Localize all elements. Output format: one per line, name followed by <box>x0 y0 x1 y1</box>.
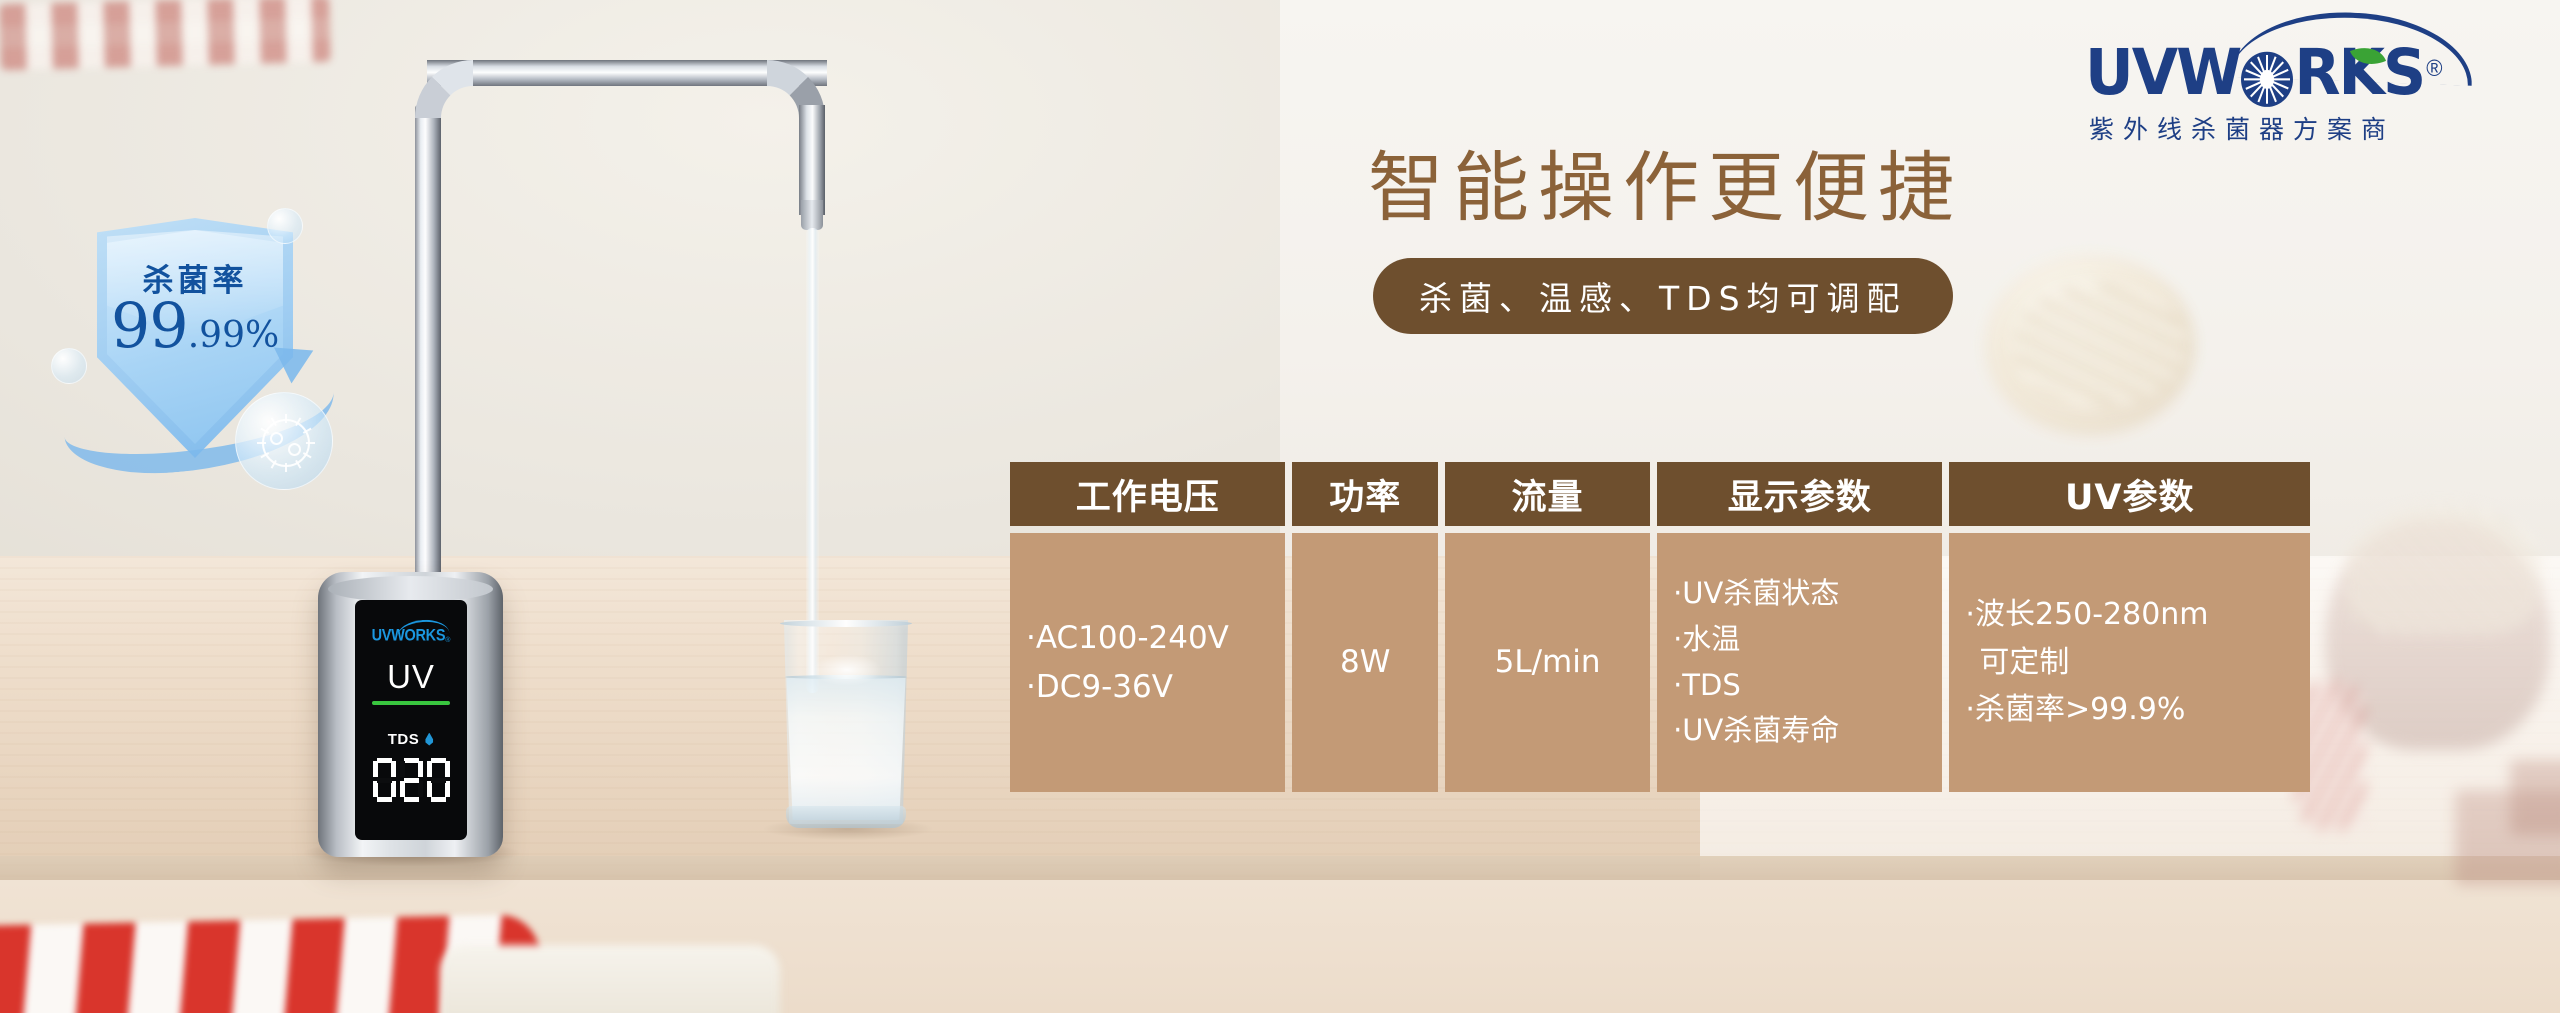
glass-water-fill <box>784 678 908 820</box>
faucet-corner-left <box>415 60 473 118</box>
page-title: 智能操作更便捷 <box>1368 126 1963 236</box>
banner-stage: UVWORKS ® UV TDS <box>0 0 2560 1013</box>
device-logo-registered: ® <box>445 637 450 644</box>
device-oled-screen: UVWORKS ® UV TDS <box>355 600 467 840</box>
badge-value-integer: 99 <box>111 289 188 362</box>
spec-body: 8W <box>1292 533 1438 792</box>
spec-body: ·波长250-280nm 可定制 ·杀菌率>99.9% <box>1949 533 2310 792</box>
faucet-left-column <box>415 105 441 605</box>
faucet-right-column <box>799 105 825 215</box>
spec-header: 功率 <box>1292 462 1438 526</box>
badge-value-decimal: .99% <box>188 315 279 356</box>
sterilization-rate-badge: 杀菌率 99.99% <box>45 200 345 500</box>
uv-sun-icon <box>2241 52 2293 107</box>
germ-cilia <box>264 421 308 465</box>
spec-line: 5L/min <box>1495 638 1601 687</box>
seven-segment-digit <box>373 758 396 802</box>
device-tds-label: TDS <box>388 731 420 748</box>
basket-net-prop <box>2345 505 2540 635</box>
spec-table: 工作电压 ·AC100-240V ·DC9-36V 功率 8W 流量 5L/mi… <box>1010 462 2310 792</box>
subtitle-pill-text: 杀菌、温感、TDS均可调配 <box>1419 272 1907 320</box>
spec-column-uv: UV参数 ·波长250-280nm 可定制 ·杀菌率>99.9% <box>1949 462 2310 792</box>
spec-line: ·波长250-280nm <box>1965 591 2208 638</box>
bubble-icon <box>267 208 303 244</box>
brand-logo: UVW RKS ® 紫外线杀菌器方案商 <box>2085 38 2485 168</box>
spec-column-flow: 流量 5L/min <box>1445 462 1650 792</box>
device-top-cap <box>328 576 493 602</box>
badge-value: 99.99% <box>97 295 293 357</box>
seven-segment-digit <box>427 758 450 802</box>
gooseneck-faucet <box>415 60 835 620</box>
spec-header: 工作电压 <box>1010 462 1285 526</box>
uv-sterilizer-device: UVWORKS ® UV TDS <box>318 572 503 862</box>
spec-body: 5L/min <box>1445 533 1650 792</box>
spec-line: ·水温 <box>1673 617 1740 663</box>
brand-tagline: 紫外线杀菌器方案商 <box>2085 110 2485 146</box>
checkered-cloth-prop <box>0 0 331 70</box>
spec-header: 流量 <box>1445 462 1650 526</box>
germ-bubble-icon <box>235 392 333 490</box>
water-splash <box>812 654 882 686</box>
spec-column-display: 显示参数 ·UV杀菌状态 ·水温 ·TDS ·UV杀菌寿命 <box>1657 462 1942 792</box>
uv-sun-core <box>2260 70 2274 89</box>
brand-wordmark: UVW RKS ® <box>2085 36 2485 110</box>
spec-body: ·UV杀菌状态 ·水温 ·TDS ·UV杀菌寿命 <box>1657 533 1942 792</box>
seven-segment-digit <box>400 758 423 802</box>
spec-header: UV参数 <box>1949 462 2310 526</box>
spec-line: ·杀菌率>99.9% <box>1965 686 2185 733</box>
spec-line: ·AC100-240V <box>1026 614 1229 663</box>
spec-line: ·TDS <box>1673 663 1741 709</box>
device-tds-row: TDS <box>388 731 435 748</box>
device-status-bar <box>372 701 450 705</box>
white-bowl-prop <box>440 945 780 1013</box>
germ-icon <box>262 419 310 467</box>
wooden-blocks-prop-2 <box>2510 760 2560 835</box>
device-logo-text: UVWORKS <box>372 627 446 645</box>
device-uv-label: UV <box>387 658 435 696</box>
spec-line: 8W <box>1340 638 1390 687</box>
water-glass <box>780 620 912 832</box>
brand-wordmark-pre: UVW <box>2085 36 2240 110</box>
glass-base <box>786 806 906 828</box>
faucet-spout <box>801 200 823 230</box>
spec-header: 显示参数 <box>1657 462 1942 526</box>
yarn-ball-texture <box>2015 285 2185 405</box>
spec-body: ·AC100-240V ·DC9-36V <box>1010 533 1285 792</box>
spec-line: ·UV杀菌状态 <box>1673 571 1839 617</box>
spec-column-power: 功率 8W <box>1292 462 1438 792</box>
water-droplet-icon <box>424 733 434 746</box>
glass-rim <box>780 620 912 627</box>
bubble-icon <box>51 348 87 384</box>
spec-line: ·UV杀菌寿命 <box>1673 708 1839 754</box>
device-screen-logo: UVWORKS ® <box>367 622 455 644</box>
spec-line: ·DC9-36V <box>1026 663 1173 712</box>
spec-column-voltage: 工作电压 ·AC100-240V ·DC9-36V <box>1010 462 1285 792</box>
spec-line: 可定制 <box>1965 639 2069 686</box>
subtitle-pill: 杀菌、温感、TDS均可调配 <box>1373 258 1953 334</box>
device-tds-readout <box>373 758 450 802</box>
